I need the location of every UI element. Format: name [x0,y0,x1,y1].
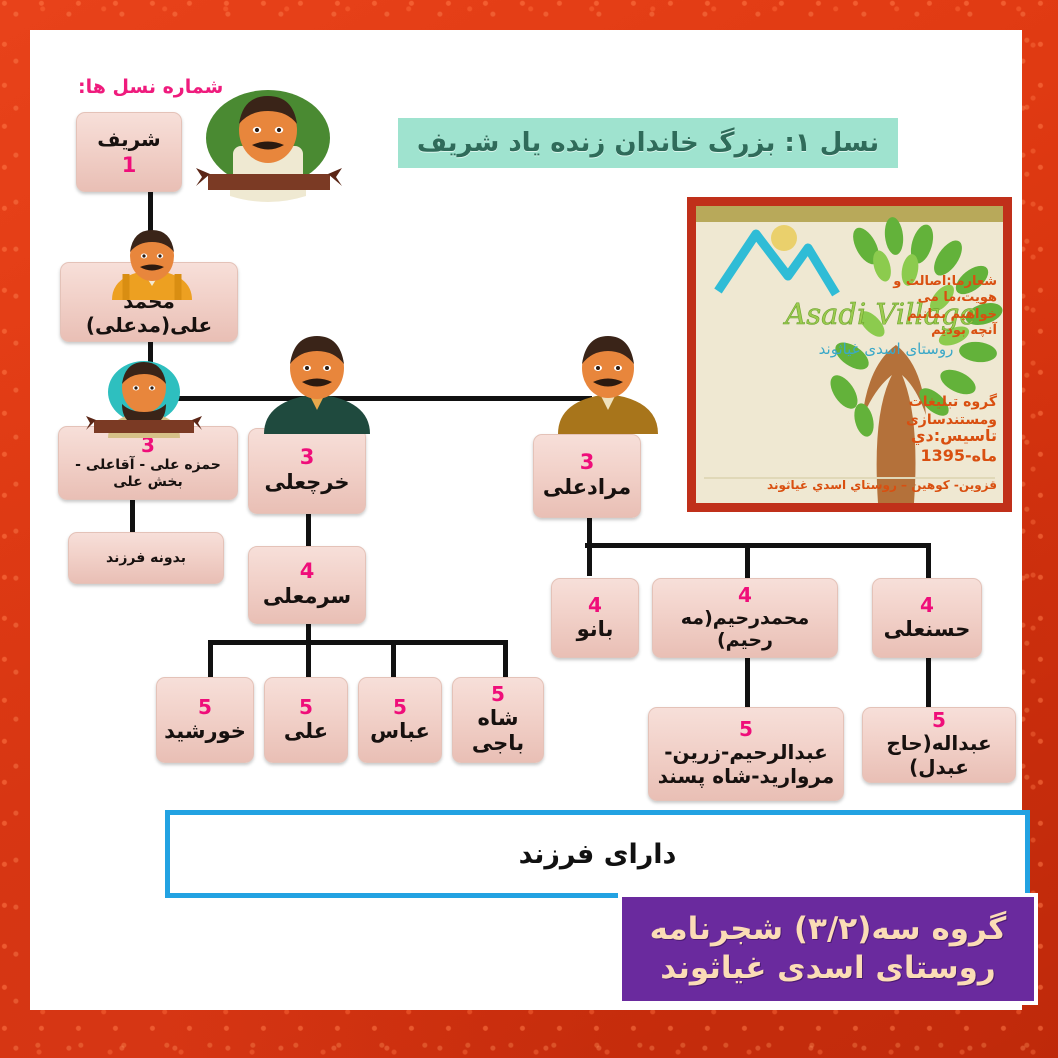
node-name: حسنعلی [884,617,971,642]
connector-bus-abbas [391,640,396,682]
node-sormaali[interactable]: سرمعلی 4 [248,546,366,624]
connector-bus-hasanali [926,543,931,581]
node-khorshid[interactable]: خورشید 5 [156,677,254,763]
node-generation: 5 [491,684,505,704]
node-name: شاه باجی [457,706,539,756]
node-no-child[interactable]: بدونه فرزند [68,532,224,584]
node-name: عبداله(حاج عبدل) [867,732,1011,779]
node-generation: 5 [739,719,753,739]
node-generation: 3 [300,447,315,468]
node-name: مرادعلی [543,475,631,500]
avatar-moradali [548,334,668,434]
child-note-box: دارای فرزند [165,810,1030,898]
node-name: بدونه فرزند [106,550,186,567]
node-ali[interactable]: علی 5 [264,677,348,763]
child-note-label: دارای فرزند [519,839,677,870]
node-name: بانو [577,617,614,642]
node-abbas[interactable]: عباس 5 [358,677,442,763]
node-kharcheali[interactable]: خرچعلی 3 [248,428,366,514]
node-name: محمدرحیم(مه رحیم) [657,607,833,652]
connector-bus-mohammadrahim [745,543,750,581]
node-generation: 4 [920,595,934,615]
node-hasanali[interactable]: حسنعلی 4 [872,578,982,658]
connector-mohammadrahim-abdolrahim [745,658,750,710]
village-logo: Asadi Village روستای اسدی غیاثوند شعارما… [687,197,1012,512]
footer-title-box: گروه سه(۳/۲) شجرنامه روستای اسدی غیاثوند [618,893,1038,1005]
node-sharif[interactable]: شریف 1 [76,112,182,192]
node-generation: 4 [300,561,315,582]
node-name: خورشید [164,719,246,744]
node-generation: 5 [198,697,212,717]
node-moradali[interactable]: مرادعلی 3 [533,434,641,518]
connector-kharcheali-sormaali [306,512,311,546]
node-generation: 5 [393,697,407,717]
footer-line-2: روستای اسدی غیاثوند [660,949,995,988]
node-mohammadrahim[interactable]: محمدرحیم(مه رحیم) 4 [652,578,838,658]
connector-bus-shahbaji [503,640,508,682]
connector-gen5-bus-left [208,640,508,645]
node-name: خرچعلی [265,470,350,495]
avatar-hamzeh [84,358,204,440]
node-name: سرمعلی [263,584,351,609]
node-generation: 4 [588,595,602,615]
node-generation: 3 [580,452,595,473]
node-name: علی [284,719,328,744]
footer-line-1: گروه سه(۳/۲) شجرنامه [650,910,1007,949]
logo-group: گروه تبلیغات ومستندسازی [837,394,997,429]
connector-sormaali-down [306,620,311,682]
node-name: عبدالرحیم-زرین-مروارید-شاه پسند [653,741,839,788]
logo-location: قزوین- کوهین – روستاي اسدي غیاثوند [705,478,997,493]
node-generation: 1 [122,155,137,176]
node-abdollah[interactable]: عبداله(حاج عبدل) 5 [862,707,1016,783]
node-shahbaji[interactable]: شاه باجی 5 [452,677,544,763]
connector-bus-khorshid [208,640,213,682]
node-abdolrahim-group[interactable]: عبدالرحیم-زرین-مروارید-شاه پسند 5 [648,707,844,801]
connector-gen4-bus-right [585,543,931,548]
connector-hasanali-abdollah [926,658,931,710]
logo-slogan: شعارما:اصالت و هویت،ما می خواهیم بمانیم … [887,274,997,339]
node-name: شریف [97,128,160,152]
header-banner: نسل ۱: بزرگ خاندان زنده یاد شریف [398,118,898,168]
avatar-mohammadali [96,228,208,300]
avatar-kharcheali [252,334,382,434]
node-name: حمزه علی - آقاعلی - بخش علی [63,457,233,490]
node-generation: 5 [299,697,313,717]
avatar-sharif [178,88,358,203]
svg-text:روستای اسدی غیاثوند: روستای اسدی غیاثوند [819,340,954,358]
node-name: عباس [370,719,430,744]
node-banoo[interactable]: بانو 4 [551,578,639,658]
node-generation: 5 [932,710,946,730]
node-generation: 4 [738,585,752,605]
logo-founded: تاسیس:دي ماه-1395 [837,426,997,466]
connector-hamzeh-nochild [130,500,135,534]
